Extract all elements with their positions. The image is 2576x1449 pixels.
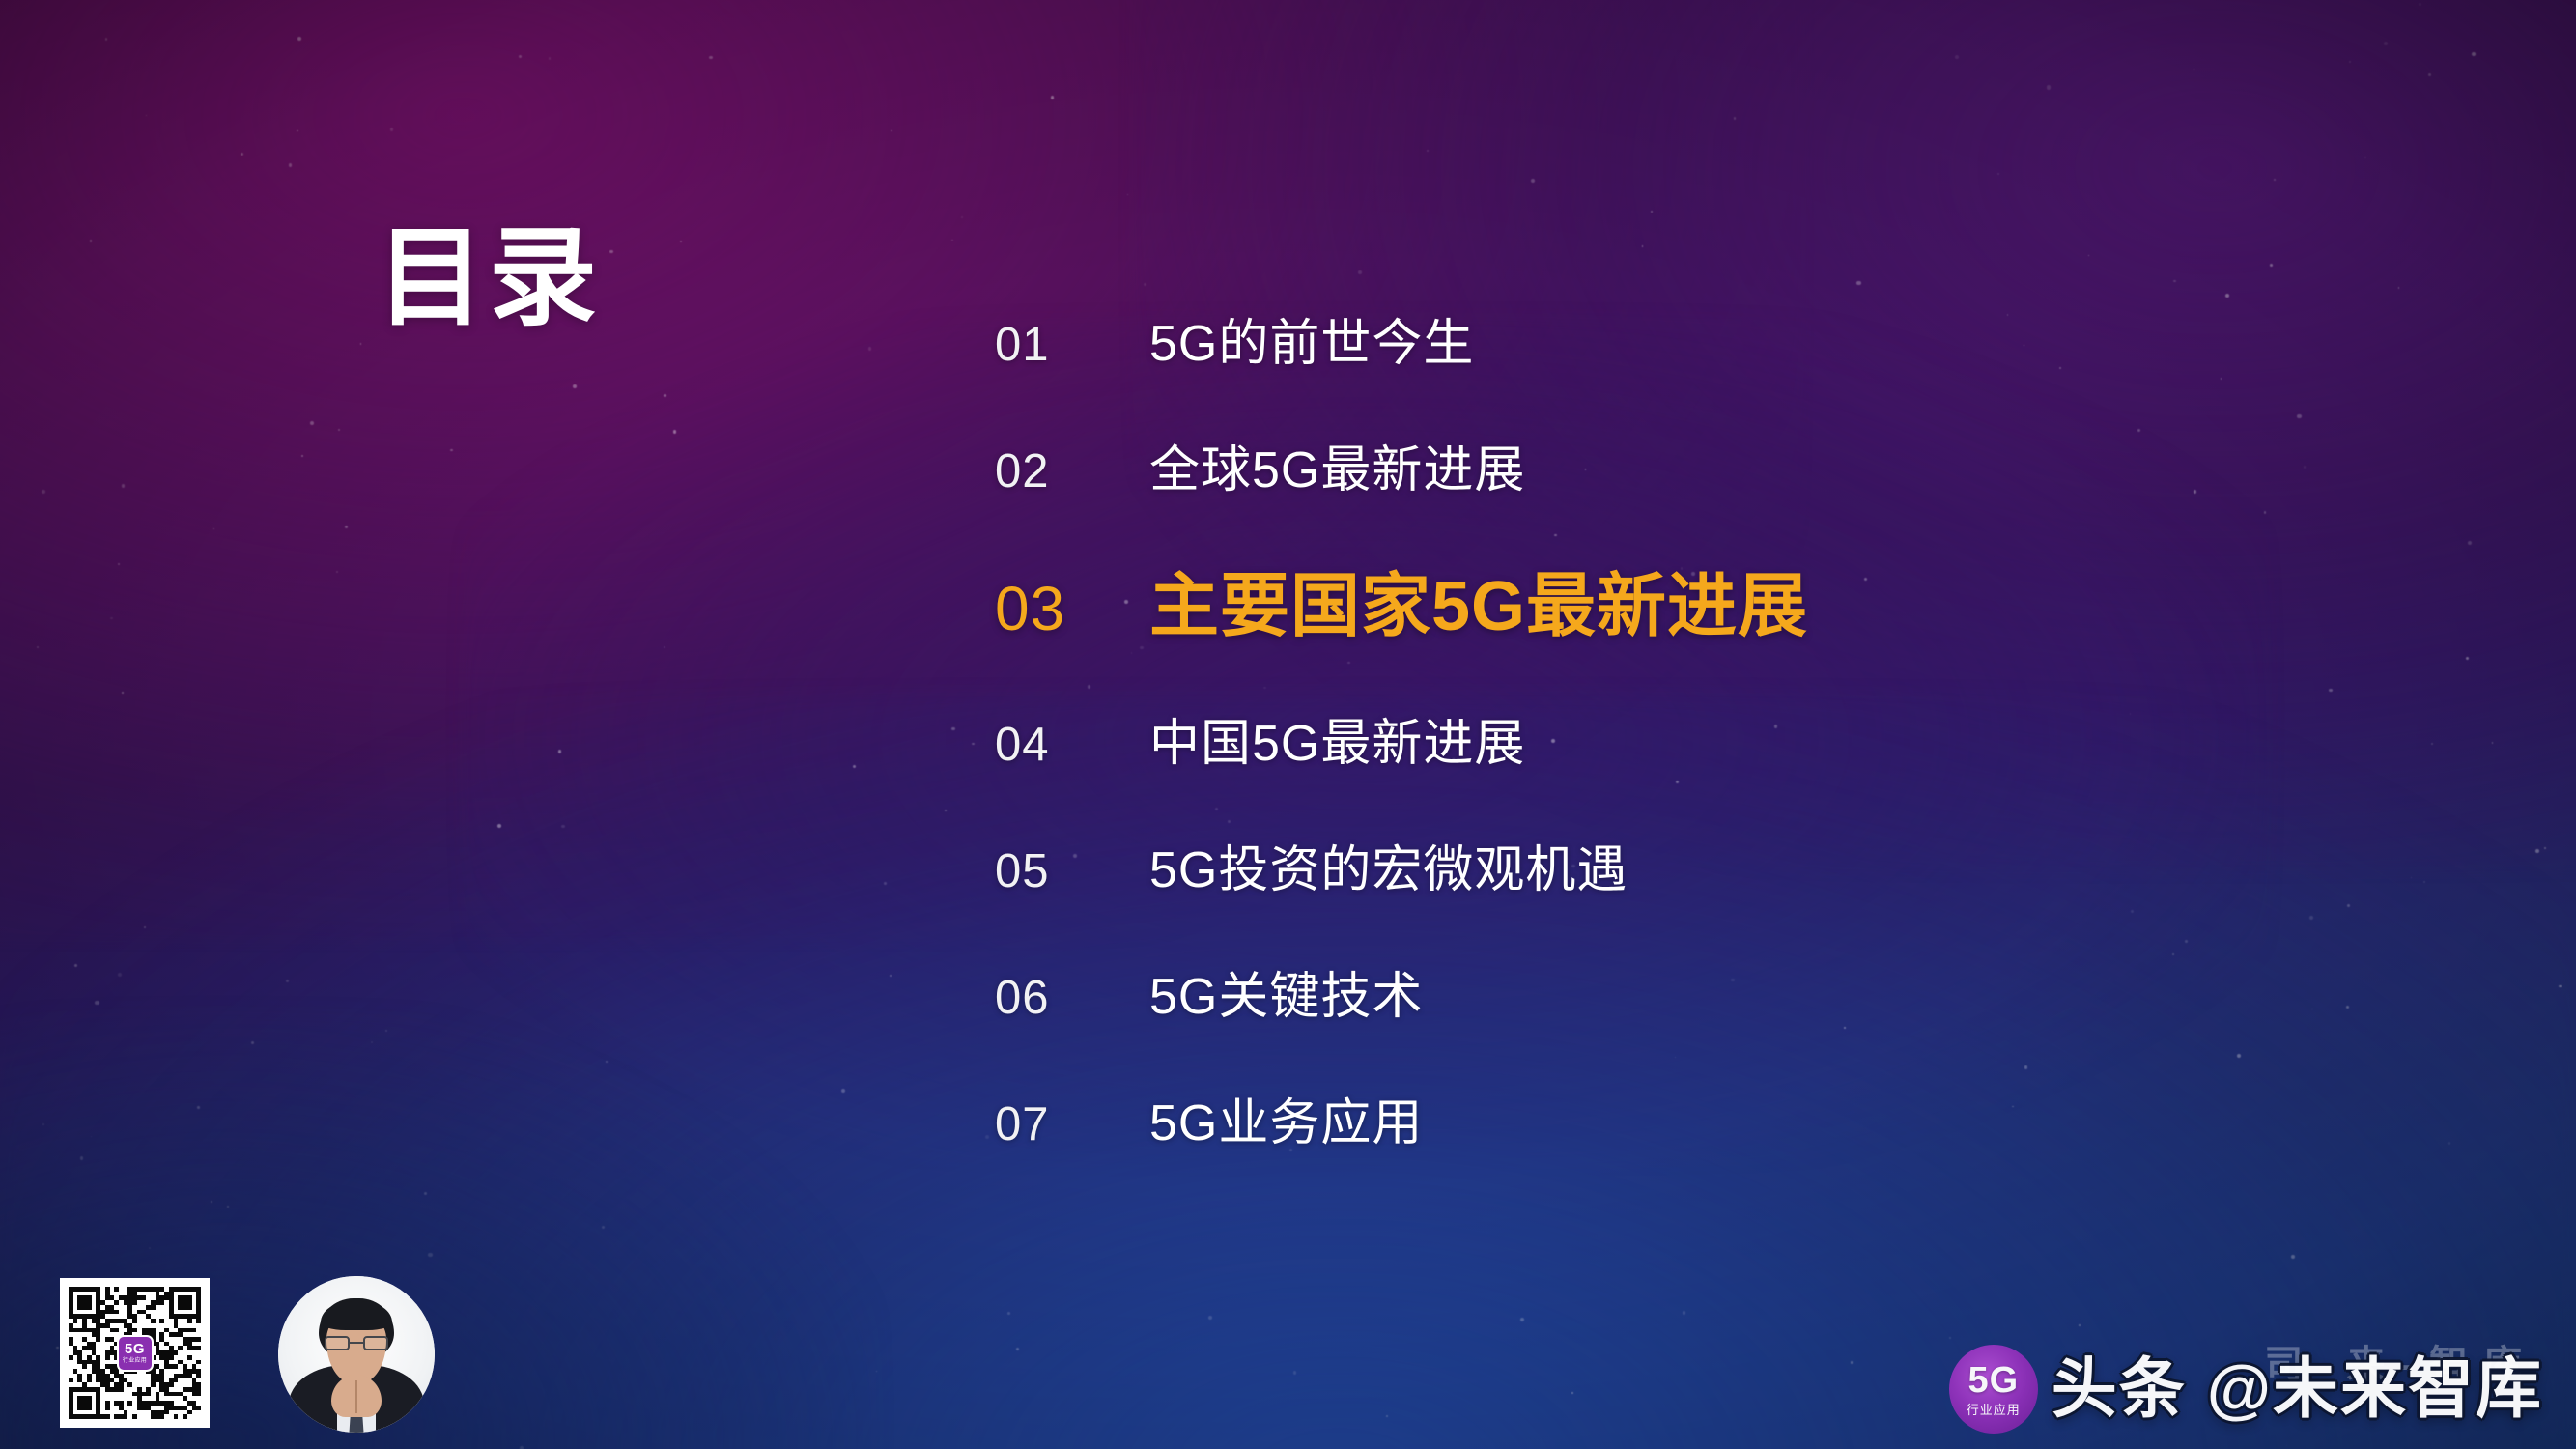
toc-item-label: 5G关键技术: [1149, 972, 1423, 1022]
qr-code[interactable]: 5G 行业应用: [60, 1278, 210, 1428]
toc-item-label: 全球5G最新进展: [1149, 445, 1525, 496]
watermark: 5G 行业应用 头条 @未来智库: [1949, 1345, 2543, 1434]
toc-item-07[interactable]: 075G业务应用: [995, 1098, 2250, 1225]
toc-item-06[interactable]: 065G关键技术: [995, 972, 2250, 1098]
qr-logo-5g-label: 5G: [125, 1342, 145, 1356]
toc-item-label: 5G的前世今生: [1149, 319, 1474, 369]
toc-item-03[interactable]: 03主要国家5G最新进展: [995, 572, 2250, 719]
glasses-icon: [325, 1336, 388, 1351]
watermark-logo-sub-label: 行业应用: [1967, 1404, 2021, 1416]
toc-item-number: 07: [995, 1101, 1149, 1149]
watermark-5g-logo-icon: 5G 行业应用: [1949, 1345, 2038, 1434]
toc-item-label: 5G业务应用: [1149, 1098, 1423, 1149]
toc-item-number: 03: [995, 578, 1149, 639]
avatar-hair-fringe: [321, 1301, 392, 1330]
qr-logo-sub-label: 行业应用: [123, 1358, 147, 1364]
glasses-lens-left: [325, 1336, 350, 1350]
toc-item-05[interactable]: 055G投资的宏微观机遇: [995, 845, 2250, 972]
watermark-logo-5g-label: 5G: [1967, 1362, 2019, 1399]
toc-item-number: 04: [995, 722, 1149, 769]
slide-canvas: 目录 015G的前世今生02全球5G最新进展03主要国家5G最新进展04中国5G…: [0, 0, 2576, 1449]
toc-item-label: 主要国家5G最新进展: [1149, 572, 1808, 641]
toc-item-02[interactable]: 02全球5G最新进展: [995, 445, 2250, 572]
toc-item-04[interactable]: 04中国5G最新进展: [995, 719, 2250, 845]
table-of-contents: 015G的前世今生02全球5G最新进展03主要国家5G最新进展04中国5G最新进…: [995, 319, 2250, 1225]
qr-code-matrix: 5G 行业应用: [69, 1287, 201, 1419]
toc-item-label: 5G投资的宏微观机遇: [1149, 845, 1628, 895]
toc-item-number: 01: [995, 322, 1149, 369]
toc-item-label: 中国5G最新进展: [1149, 719, 1525, 769]
toc-item-number: 05: [995, 848, 1149, 895]
qr-code-center-logo: 5G 行业应用: [117, 1335, 154, 1372]
avatar: [278, 1276, 435, 1433]
glasses-lens-right: [363, 1336, 388, 1350]
page-title: 目录: [377, 224, 601, 332]
toc-item-number: 02: [995, 448, 1149, 496]
toc-item-01[interactable]: 015G的前世今生: [995, 319, 2250, 445]
glasses-bridge: [350, 1342, 363, 1344]
toc-item-number: 06: [995, 975, 1149, 1022]
watermark-text: 头条 @未来智库: [2052, 1356, 2543, 1422]
